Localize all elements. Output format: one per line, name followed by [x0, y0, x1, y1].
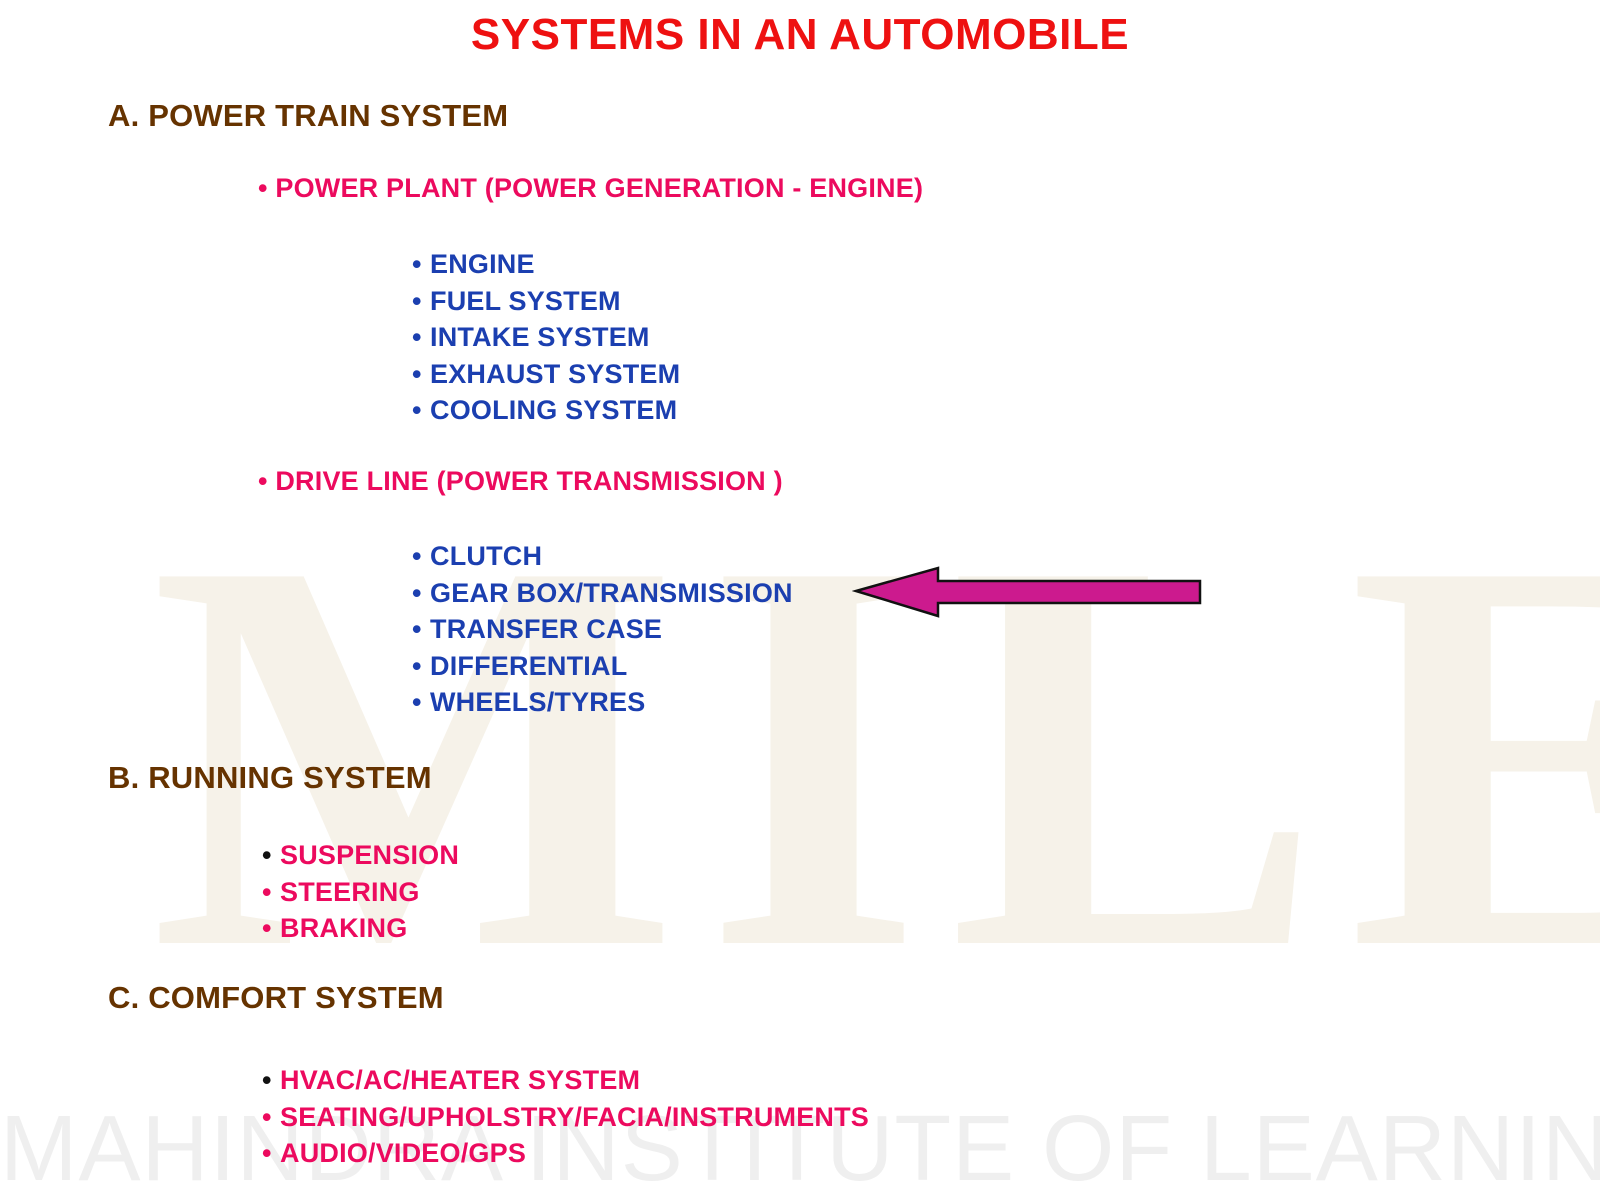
bullet-icon: • — [412, 392, 430, 429]
list-item-label: SUSPENSION — [280, 840, 459, 870]
list-item: •DIFFERENTIAL — [412, 648, 793, 685]
list-item: •FUEL SYSTEM — [412, 283, 680, 320]
list-item: •TRANSFER CASE — [412, 611, 793, 648]
list-item: •SUSPENSION — [262, 837, 459, 874]
list-item: •CLUTCH — [412, 538, 793, 575]
list-item-label: WHEELS/TYRES — [430, 687, 645, 717]
list-comfort-items: •HVAC/AC/HEATER SYSTEM •SEATING/UPHOLSTR… — [262, 1062, 869, 1172]
list-item-gear-box: •GEAR BOX/TRANSMISSION — [412, 575, 793, 612]
list-item-label: GEAR BOX/TRANSMISSION — [430, 578, 793, 608]
list-item: •SEATING/UPHOLSTRY/FACIA/INSTRUMENTS — [262, 1099, 869, 1136]
bullet-icon: • — [412, 356, 430, 393]
list-item-label: SEATING/UPHOLSTRY/FACIA/INSTRUMENTS — [280, 1102, 869, 1132]
list-running-items: •SUSPENSION •STEERING •BRAKING — [262, 837, 459, 947]
section-heading-comfort: C. COMFORT SYSTEM — [108, 980, 444, 1016]
section-heading-power-train: A. POWER TRAIN SYSTEM — [108, 98, 508, 134]
bullet-icon: • — [262, 910, 280, 947]
subheading-drive-line: • DRIVE LINE (POWER TRANSMISSION ) — [258, 466, 783, 497]
bullet-icon: • — [262, 1099, 280, 1136]
bullet-icon: • — [412, 246, 430, 283]
left-arrow-callout-icon — [852, 560, 1204, 620]
list-item: •INTAKE SYSTEM — [412, 319, 680, 356]
list-item-label: HVAC/AC/HEATER SYSTEM — [280, 1065, 640, 1095]
list-item: •HVAC/AC/HEATER SYSTEM — [262, 1062, 869, 1099]
bullet-icon: • — [412, 684, 430, 721]
bullet-icon: • — [412, 538, 430, 575]
arrow-shape — [856, 568, 1200, 616]
list-item-label: COOLING SYSTEM — [430, 395, 677, 425]
list-item-label: EXHAUST SYSTEM — [430, 359, 680, 389]
list-item-label: ENGINE — [430, 249, 535, 279]
list-item-label: FUEL SYSTEM — [430, 286, 621, 316]
list-item-label: DIFFERENTIAL — [430, 651, 627, 681]
slide-content: SYSTEMS IN AN AUTOMOBILE A. POWER TRAIN … — [0, 0, 1600, 1199]
section-heading-running: B. RUNNING SYSTEM — [108, 760, 432, 796]
bullet-icon: • — [412, 283, 430, 320]
bullet-icon: • — [412, 319, 430, 356]
list-item-label: BRAKING — [280, 913, 407, 943]
list-item-label: TRANSFER CASE — [430, 614, 662, 644]
bullet-icon: • — [412, 575, 430, 612]
bullet-icon: • — [262, 874, 280, 911]
bullet-icon: • — [262, 837, 280, 874]
list-power-plant-items: •ENGINE •FUEL SYSTEM •INTAKE SYSTEM •EXH… — [412, 246, 680, 429]
list-item-label: CLUTCH — [430, 541, 542, 571]
list-item: •ENGINE — [412, 246, 680, 283]
list-item: •WHEELS/TYRES — [412, 684, 793, 721]
list-item: •EXHAUST SYSTEM — [412, 356, 680, 393]
list-item: •COOLING SYSTEM — [412, 392, 680, 429]
page-title: SYSTEMS IN AN AUTOMOBILE — [0, 10, 1600, 60]
subheading-power-plant: • POWER PLANT (POWER GENERATION - ENGINE… — [258, 173, 923, 204]
list-item: •AUDIO/VIDEO/GPS — [262, 1135, 869, 1172]
list-item: •STEERING — [262, 874, 459, 911]
list-item-label: STEERING — [280, 877, 420, 907]
list-item-label: AUDIO/VIDEO/GPS — [280, 1138, 526, 1168]
bullet-icon: • — [262, 1135, 280, 1172]
bullet-icon: • — [412, 648, 430, 685]
slide-canvas: MILE MAHINDRA INSTITUTE OF LEARNING EXCE… — [0, 0, 1600, 1199]
bullet-icon: • — [412, 611, 430, 648]
list-drive-line-items: •CLUTCH •GEAR BOX/TRANSMISSION •TRANSFER… — [412, 538, 793, 721]
list-item-label: INTAKE SYSTEM — [430, 322, 650, 352]
bullet-icon: • — [262, 1062, 280, 1099]
list-item: •BRAKING — [262, 910, 459, 947]
